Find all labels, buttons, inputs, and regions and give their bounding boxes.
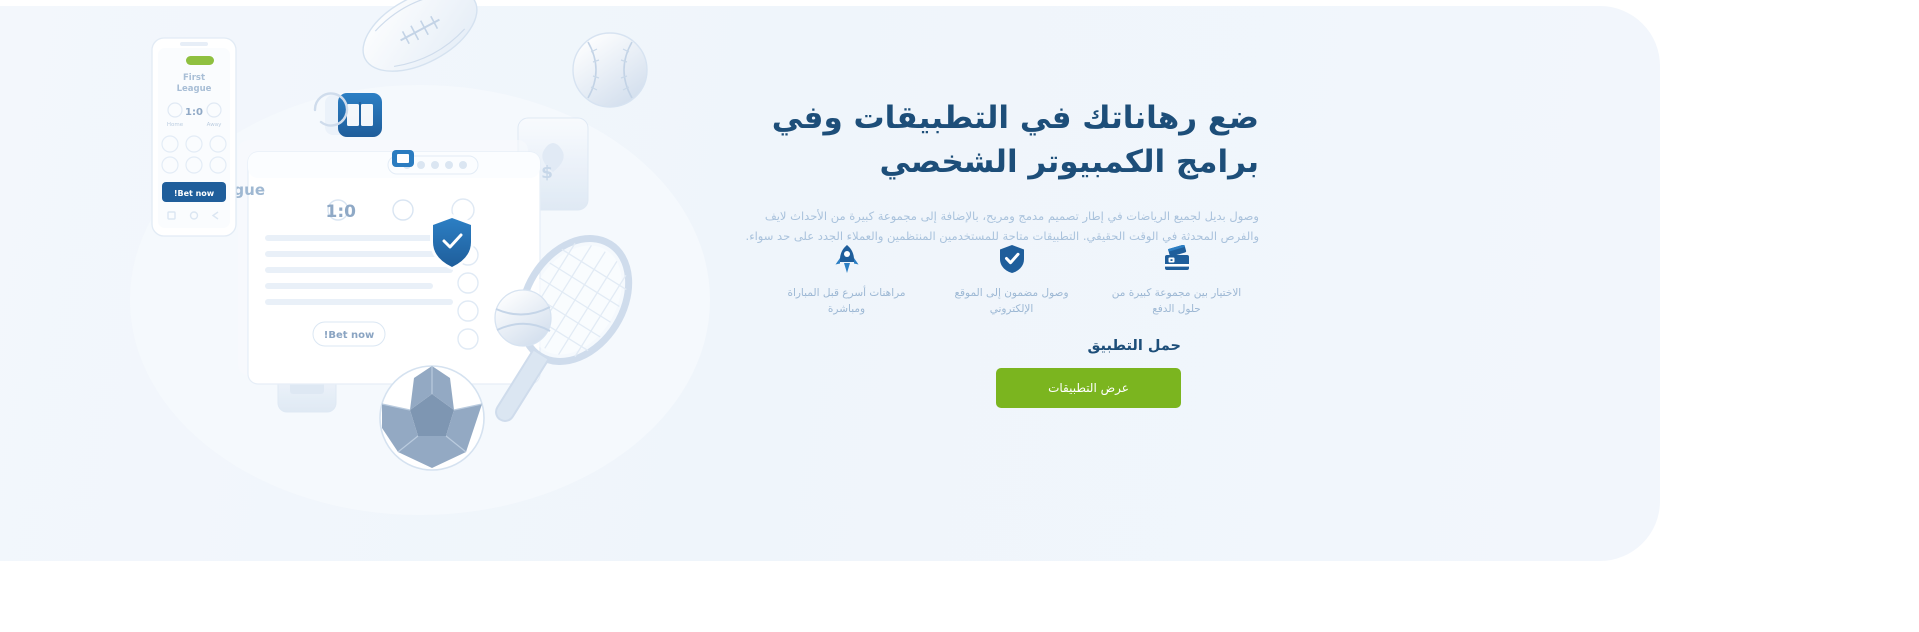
feature-label: مراهنات أسرع قبل المباراة ومباشرة — [770, 285, 923, 318]
svg-text:First: First — [183, 73, 205, 83]
headline-line-2: برامج الكمبيوتر الشخصي — [880, 144, 1259, 180]
svg-text:Home: Home — [167, 122, 184, 128]
phone-bet-now-button: Bet now! — [162, 182, 226, 202]
hero-copy: ضع رهاناتك في التطبيقات وفي برامج الكمبي… — [739, 96, 1259, 246]
hero-section: $ — [0, 0, 1919, 632]
feature-item-secure-access: وصول مضمون إلى الموقع الإلكتروني — [929, 242, 1094, 318]
american-football-graphic — [350, 0, 490, 88]
page-title: ضع رهاناتك في التطبيقات وفي برامج الكمبي… — [739, 96, 1259, 184]
wallet-icon — [1100, 242, 1253, 276]
svg-text:1:0: 1:0 — [326, 202, 357, 222]
svg-text:Bet now!: Bet now! — [174, 189, 215, 198]
hero-description: وصول بديل لجميع الرياضات في إطار تصميم م… — [739, 206, 1259, 246]
tennis-ball-graphic — [495, 290, 551, 346]
cta-block: حمل التطبيق عرض التطبيقات — [739, 338, 1259, 408]
svg-text:1:0: 1:0 — [185, 107, 203, 118]
headline-line-1: ضع رهاناتك في التطبيقات وفي — [772, 100, 1259, 136]
hero-illustration: $ — [120, 0, 740, 520]
svg-text:$: $ — [541, 163, 553, 183]
show-apps-button[interactable]: عرض التطبيقات — [996, 368, 1181, 408]
baseball-graphic — [573, 33, 647, 107]
board-bet-now-button: Bet now! — [313, 322, 385, 346]
svg-text:Away: Away — [207, 122, 222, 128]
cta-title: حمل التطبيق — [739, 338, 1259, 354]
feature-label: الاختيار بين مجموعة كبيرة من حلول الدفع — [1100, 285, 1253, 318]
svg-text:League: League — [177, 84, 212, 94]
shield-check-icon — [935, 242, 1088, 276]
rocket-icon — [770, 242, 923, 276]
feature-list: الاختيار بين مجموعة كبيرة من حلول الدفع … — [739, 242, 1259, 318]
svg-text:Bet now!: Bet now! — [324, 330, 374, 341]
feature-label: وصول مضمون إلى الموقع الإلكتروني — [935, 285, 1088, 318]
feature-item-payments: الاختيار بين مجموعة كبيرة من حلول الدفع — [1094, 242, 1259, 318]
feature-item-fast-bets: مراهنات أسرع قبل المباراة ومباشرة — [764, 242, 929, 318]
soccer-ball-graphic — [380, 366, 484, 470]
phone-mockup: First League 1:0 Home Away Bet no — [152, 38, 236, 236]
